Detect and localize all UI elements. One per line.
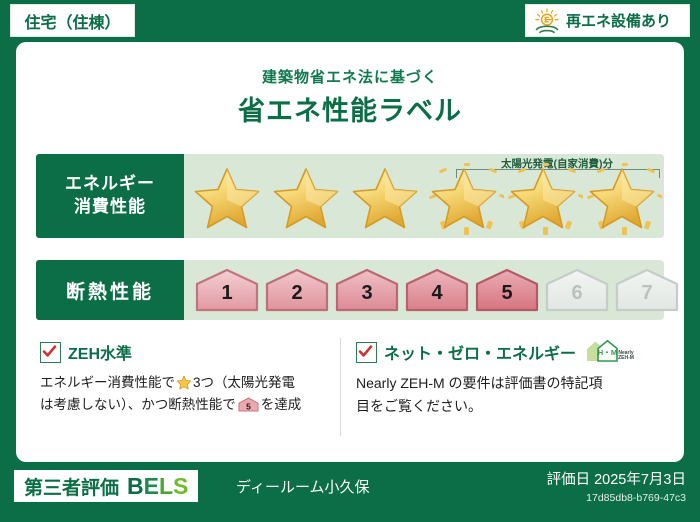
insulation-badge-value: 7 <box>641 282 652 305</box>
netzero-description: Nearly ZEH-M の要件は評価書の特記項目をご覧ください。 <box>356 372 656 417</box>
zeh-m-logo-icon: H・M Nearly ZEH-M <box>585 339 637 365</box>
insulation-badge-3: 3 <box>334 268 400 312</box>
star-icon <box>272 167 340 229</box>
bels-letter-s: S <box>173 473 188 499</box>
evaluation-date: 評価日 2025年7月3日 <box>547 468 686 489</box>
renewable-energy-label: 再エネ設備あり <box>566 10 671 31</box>
insulation-performance-caption: 断熱性能 <box>36 260 184 320</box>
insulation-badge-7: 7 <box>614 268 680 312</box>
zeh-title: ZEH水準 <box>68 340 132 364</box>
insulation-performance-row: 断熱性能 1234567 <box>36 260 664 320</box>
evaluation-info: 評価日 2025年7月3日 17d85db8-b769-47c3 <box>547 468 686 504</box>
insulation-badge-value: 4 <box>431 282 442 305</box>
star-icon <box>509 167 577 229</box>
star-icon <box>193 167 261 229</box>
building-type-label: 住宅（住棟） <box>24 9 120 33</box>
label-title: 省エネ性能ラベル <box>16 89 684 128</box>
netzero-line2: 目をご覧ください。 <box>356 398 482 414</box>
insulation-badge-5: 5 <box>474 268 540 312</box>
zeh-text-1: エネルギー消費性能で <box>40 375 175 390</box>
insulation-badge-1: 1 <box>194 268 260 312</box>
star-2 <box>267 154 346 238</box>
zeh-text-3: は考慮しない）、かつ断熱性能で <box>40 397 236 412</box>
inline-badge-value: 5 <box>246 401 251 411</box>
star-icon <box>430 167 498 229</box>
zeh-m-logo-sub2: ZEH-M <box>618 355 634 361</box>
star-6 <box>583 154 662 238</box>
zeh-text-4: を達成 <box>261 397 302 412</box>
bels-letter-l: L <box>159 473 173 499</box>
energy-caption-line1: エネルギー <box>65 173 155 196</box>
energy-caption-line2: 消費性能 <box>74 196 146 219</box>
insulation-badge-value: 1 <box>221 282 232 305</box>
renewable-energy-badge: 再エネ設備あり <box>525 4 690 37</box>
building-type-badge: 住宅（住棟） <box>10 4 135 37</box>
netzero-check-icon <box>356 342 377 363</box>
netzero-line1: Nearly ZEH-M の要件は評価書の特記項 <box>356 375 603 391</box>
energy-performance-label: 住宅（住棟） 再エネ設備あり 建築物省エネ法に基づく 省エネ性能ラベル <box>0 0 700 522</box>
bels-letter-e: E <box>144 473 159 499</box>
bels-jp-label: 第三者評価 <box>24 473 119 500</box>
insulation-badge-value: 3 <box>361 282 372 305</box>
energy-performance-row: エネルギー 消費性能 太陽光発電(自家消費)分 <box>36 154 664 238</box>
solar-sun-icon <box>532 8 562 34</box>
star-icon <box>351 167 419 229</box>
zeh-description: エネルギー消費性能で3つ（太陽光発電は考慮しない）、かつ断熱性能で5を達成 <box>40 372 340 416</box>
zeh-standard-block: ZEH水準 エネルギー消費性能で3つ（太陽光発電は考慮しない）、かつ断熱性能で5… <box>40 340 340 416</box>
bels-logo: BELS <box>127 473 188 500</box>
insulation-level-scale: 1234567 <box>194 260 680 320</box>
star-4 <box>425 154 504 238</box>
star-3 <box>346 154 425 238</box>
insulation-badge-6: 6 <box>544 268 610 312</box>
label-subtitle: 建築物省エネ法に基づく <box>16 66 684 87</box>
inline-insulation-badge: 5 <box>238 397 259 412</box>
netzero-title: ネット・ゼロ・エネルギー <box>384 340 576 364</box>
net-zero-energy-block: ネット・ゼロ・エネルギー H・M Nearly ZEH-M Nearly ZEH… <box>356 340 656 417</box>
zeh-m-logo-main: H・M <box>598 348 617 357</box>
label-footer: 第三者評価 BELS ディールーム小久保 評価日 2025年7月3日 17d85… <box>0 466 700 522</box>
netzero-heading: ネット・ゼロ・エネルギー H・M Nearly ZEH-M <box>356 340 656 364</box>
section-divider <box>340 338 341 436</box>
property-name: ディールーム小久保 <box>236 476 370 497</box>
insulation-badge-value: 6 <box>571 282 582 305</box>
bels-certification-mark: 第三者評価 BELS <box>14 470 198 502</box>
insulation-badge-2: 2 <box>264 268 330 312</box>
star-icon <box>588 167 656 229</box>
insulation-badge-value: 5 <box>501 282 512 305</box>
inline-star-icon <box>176 375 192 390</box>
insulation-badge-4: 4 <box>404 268 470 312</box>
energy-performance-caption: エネルギー 消費性能 <box>36 154 184 238</box>
bels-letter-b: B <box>127 473 144 499</box>
zeh-check-icon <box>40 342 61 363</box>
evaluation-id: 17d85db8-b769-47c3 <box>547 492 686 504</box>
star-5 <box>504 154 583 238</box>
zeh-text-2: 3つ（太陽光発電 <box>193 375 295 390</box>
star-1 <box>188 154 267 238</box>
main-panel: 建築物省エネ法に基づく 省エネ性能ラベル エネルギー 消費性能 太陽光発電(自家… <box>16 42 684 462</box>
star-rating <box>188 154 664 238</box>
energy-rating-area: 太陽光発電(自家消費)分 <box>184 154 664 238</box>
insulation-rating-area: 1234567 <box>184 260 664 320</box>
insulation-badge-value: 2 <box>291 282 302 305</box>
zeh-heading: ZEH水準 <box>40 340 340 364</box>
